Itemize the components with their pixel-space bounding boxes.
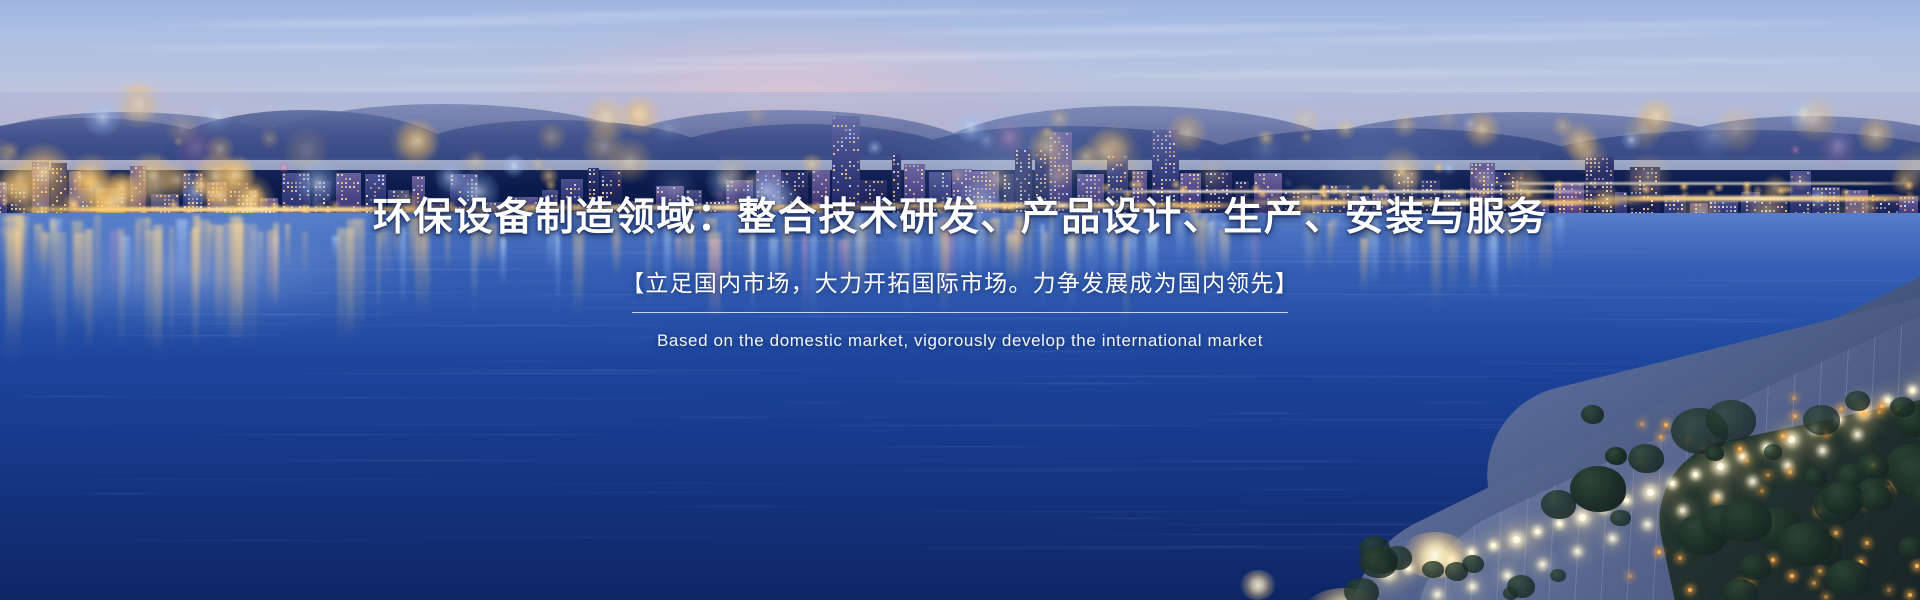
hero-banner: 环保设备制造领域：整合技术研发、产品设计、生产、安装与服务 【立足国内市场，大力… (0, 0, 1920, 600)
waterfront-promenade (1200, 270, 1920, 600)
